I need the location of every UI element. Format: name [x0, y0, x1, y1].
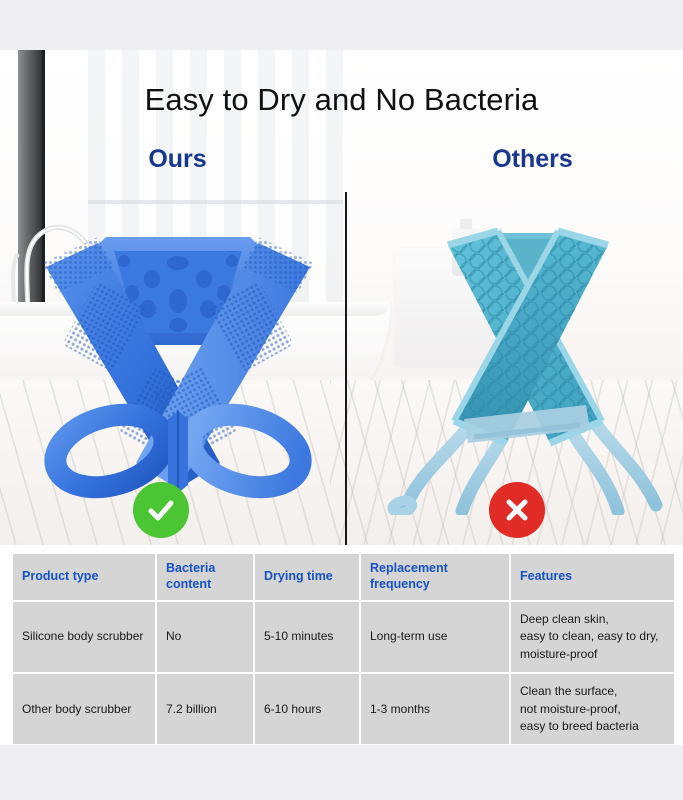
silicone-body-scrubber [28, 205, 328, 515]
header-replacement-frequency: Replacement frequency [361, 554, 509, 600]
header-drying-time: Drying time [255, 554, 359, 600]
cell-product-type: Silicone body scrubber [13, 602, 155, 672]
cell-features: Clean the surface,not moisture-proof,eas… [511, 674, 674, 744]
cell-drying-time: 5-10 minutes [255, 602, 359, 672]
header-product-type: Product type [13, 554, 155, 600]
cell-drying-time: 6-10 hours [255, 674, 359, 744]
comparison-photo: Easy to Dry and No Bacteria Ours Others [0, 50, 683, 545]
table-row: Silicone body scrubber No 5-10 minutes L… [13, 602, 674, 672]
comparison-table-wrap: Product type Bacteria content Drying tim… [0, 545, 683, 745]
infographic-page: Easy to Dry and No Bacteria Ours Others … [0, 0, 683, 800]
page-title: Easy to Dry and No Bacteria [0, 82, 683, 118]
label-ours: Ours [90, 145, 265, 174]
cross-mark-icon [489, 482, 545, 538]
table-row: Other body scrubber 7.2 billion 6-10 hou… [13, 674, 674, 744]
cell-bacteria-content: 7.2 billion [157, 674, 253, 744]
window-frame [88, 200, 343, 204]
cell-product-type: Other body scrubber [13, 674, 155, 744]
cell-replacement-frequency: 1-3 months [361, 674, 509, 744]
center-divider [345, 192, 347, 545]
header-features: Features [511, 554, 674, 600]
label-others: Others [445, 145, 620, 174]
table-header-row: Product type Bacteria content Drying tim… [13, 554, 674, 600]
check-mark-icon [133, 482, 189, 538]
header-bacteria-content: Bacteria content [157, 554, 253, 600]
comparison-table: Product type Bacteria content Drying tim… [11, 552, 676, 746]
cell-replacement-frequency: Long-term use [361, 602, 509, 672]
cell-features: Deep clean skin,easy to clean, easy to d… [511, 602, 674, 672]
cell-bacteria-content: No [157, 602, 253, 672]
fabric-body-scrubber [378, 205, 678, 515]
